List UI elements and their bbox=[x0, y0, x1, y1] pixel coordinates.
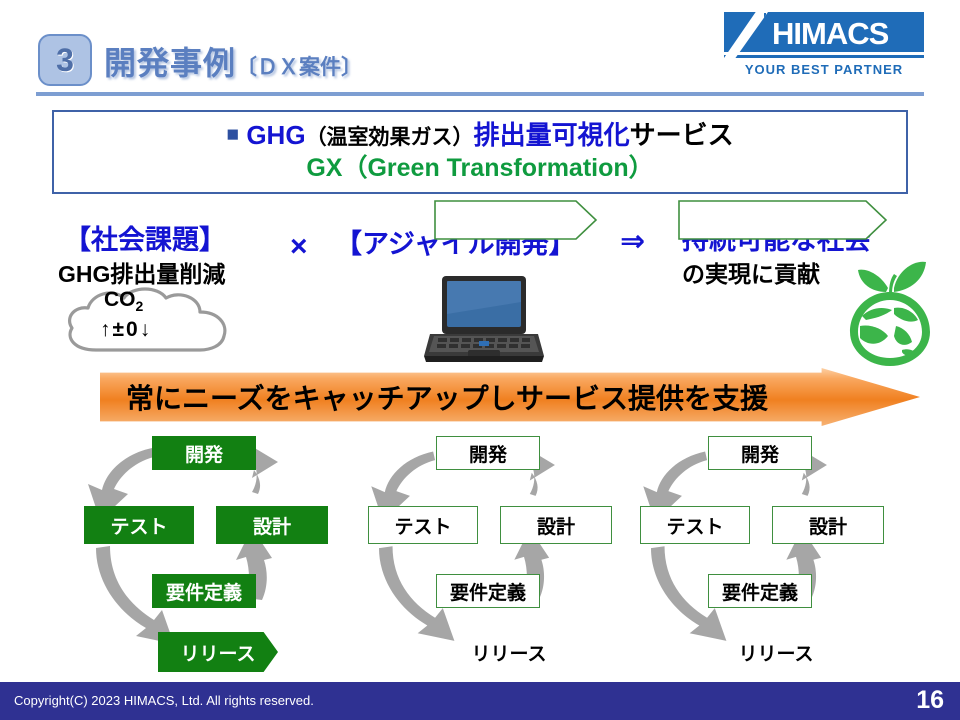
footer-bar: Copyright(C) 2023 HIMACS, Ltd. All right… bbox=[0, 682, 960, 720]
logo-wordmark: HIMACS bbox=[772, 16, 888, 52]
cycle1-design-box: 設計 bbox=[216, 506, 328, 544]
ghg-headline-line1: ■ GHG（温室効果ガス）排出量可視化サービス bbox=[54, 118, 906, 153]
cycle3-test-label: テスト bbox=[666, 512, 723, 539]
cloud-co2-value: ↑±0↓ bbox=[100, 318, 152, 342]
page-title: 開発事例〔ＤＸ案件〕 bbox=[104, 38, 362, 84]
page-number: 16 bbox=[916, 686, 944, 715]
green-earth-icon bbox=[836, 258, 944, 366]
ghg-visualization: 排出量可視化 bbox=[474, 120, 630, 150]
sustainable-society-title: 持続可能な社会 bbox=[682, 218, 871, 257]
header-divider bbox=[36, 92, 924, 96]
cycle3-develop-label: 開発 bbox=[741, 440, 779, 467]
laptop-icon bbox=[424, 272, 544, 364]
cycle3-test-box: テスト bbox=[640, 506, 750, 544]
ghg-headline-box: ■ GHG（温室効果ガス）排出量可視化サービス GX（Green Transfo… bbox=[52, 110, 908, 194]
co2-text: CO bbox=[104, 288, 136, 311]
logo-mark: HIMACS bbox=[724, 12, 924, 58]
cycle2-release-label: リリース bbox=[471, 639, 546, 666]
cycle1-test-label: テスト bbox=[110, 512, 167, 539]
bullet-square-icon: ■ bbox=[226, 123, 239, 146]
logo-underbar bbox=[724, 52, 924, 55]
cycle2-requirements-label: 要件定義 bbox=[450, 578, 526, 605]
cycle1-test-box: テスト bbox=[84, 506, 194, 544]
cycle1-requirements-box: 要件定義 bbox=[152, 574, 256, 608]
section-number-text: 3 bbox=[56, 42, 74, 79]
cycle2-develop-box: 開発 bbox=[436, 436, 540, 470]
cycle1-develop-box: 開発 bbox=[152, 436, 256, 470]
cloud-co2-label: CO2 bbox=[104, 288, 143, 314]
agile-development-title: 【アジャイル開発】 bbox=[335, 222, 576, 261]
support-banner: 常にニーズをキャッチアップしサービス提供を支援 bbox=[100, 368, 920, 426]
ghg-expansion: （温室効果ガス） bbox=[306, 126, 474, 149]
copyright-text: Copyright(C) 2023 HIMACS, Ltd. All right… bbox=[14, 693, 314, 708]
sustainable-society-subtitle: の実現に貢献 bbox=[682, 255, 820, 289]
cycle3-design-label: 設計 bbox=[809, 512, 847, 539]
cycle2-design-box: 設計 bbox=[500, 506, 612, 544]
ghg-service-word: サービス bbox=[630, 120, 734, 150]
double-arrow-icon: ⇒ bbox=[620, 224, 645, 259]
cycle1-design-label: 設計 bbox=[253, 512, 291, 539]
cross-symbol: × bbox=[290, 230, 308, 264]
cycle3-design-box: 設計 bbox=[772, 506, 884, 544]
cycle1-develop-label: 開発 bbox=[185, 440, 223, 467]
cycle3-release-label-wrap: リリース bbox=[678, 632, 874, 672]
cycle1-requirements-label: 要件定義 bbox=[166, 578, 242, 605]
cycle3-release-label: リリース bbox=[738, 639, 813, 666]
cycle2-release-label-wrap: リリース bbox=[434, 632, 584, 672]
ghg-abbrev: GHG bbox=[246, 120, 305, 150]
page-title-sub: 〔ＤＸ案件〕 bbox=[236, 56, 362, 79]
cycle1-release-chevron: リリース bbox=[158, 632, 278, 672]
cycle2-requirements-box: 要件定義 bbox=[436, 574, 540, 608]
cycle3-requirements-label: 要件定義 bbox=[722, 578, 798, 605]
cycle2-design-label: 設計 bbox=[537, 512, 575, 539]
social-issue-title: 【社会課題】 bbox=[64, 218, 226, 257]
cycle2-test-box: テスト bbox=[368, 506, 478, 544]
banner-label: 常にニーズをキャッチアップしサービス提供を支援 bbox=[126, 377, 768, 417]
cycle2-develop-label: 開発 bbox=[469, 440, 507, 467]
gx-subtitle: GX（Green Transformation） bbox=[54, 153, 906, 184]
cycle2-test-label: テスト bbox=[394, 512, 451, 539]
cycle1-release-label: リリース bbox=[180, 639, 255, 666]
cycle3-requirements-box: 要件定義 bbox=[708, 574, 812, 608]
section-number-badge: 3 bbox=[38, 34, 92, 86]
cycle3-develop-box: 開発 bbox=[708, 436, 812, 470]
page-title-main: 開発事例 bbox=[104, 45, 236, 81]
brand-logo: HIMACS YOUR BEST PARTNER bbox=[724, 12, 924, 77]
logo-tagline: YOUR BEST PARTNER bbox=[724, 62, 924, 77]
slide-canvas: 3 開発事例〔ＤＸ案件〕 HIMACS YOUR BEST PARTNER ■ … bbox=[0, 0, 960, 720]
co2-subscript: 2 bbox=[136, 298, 144, 314]
